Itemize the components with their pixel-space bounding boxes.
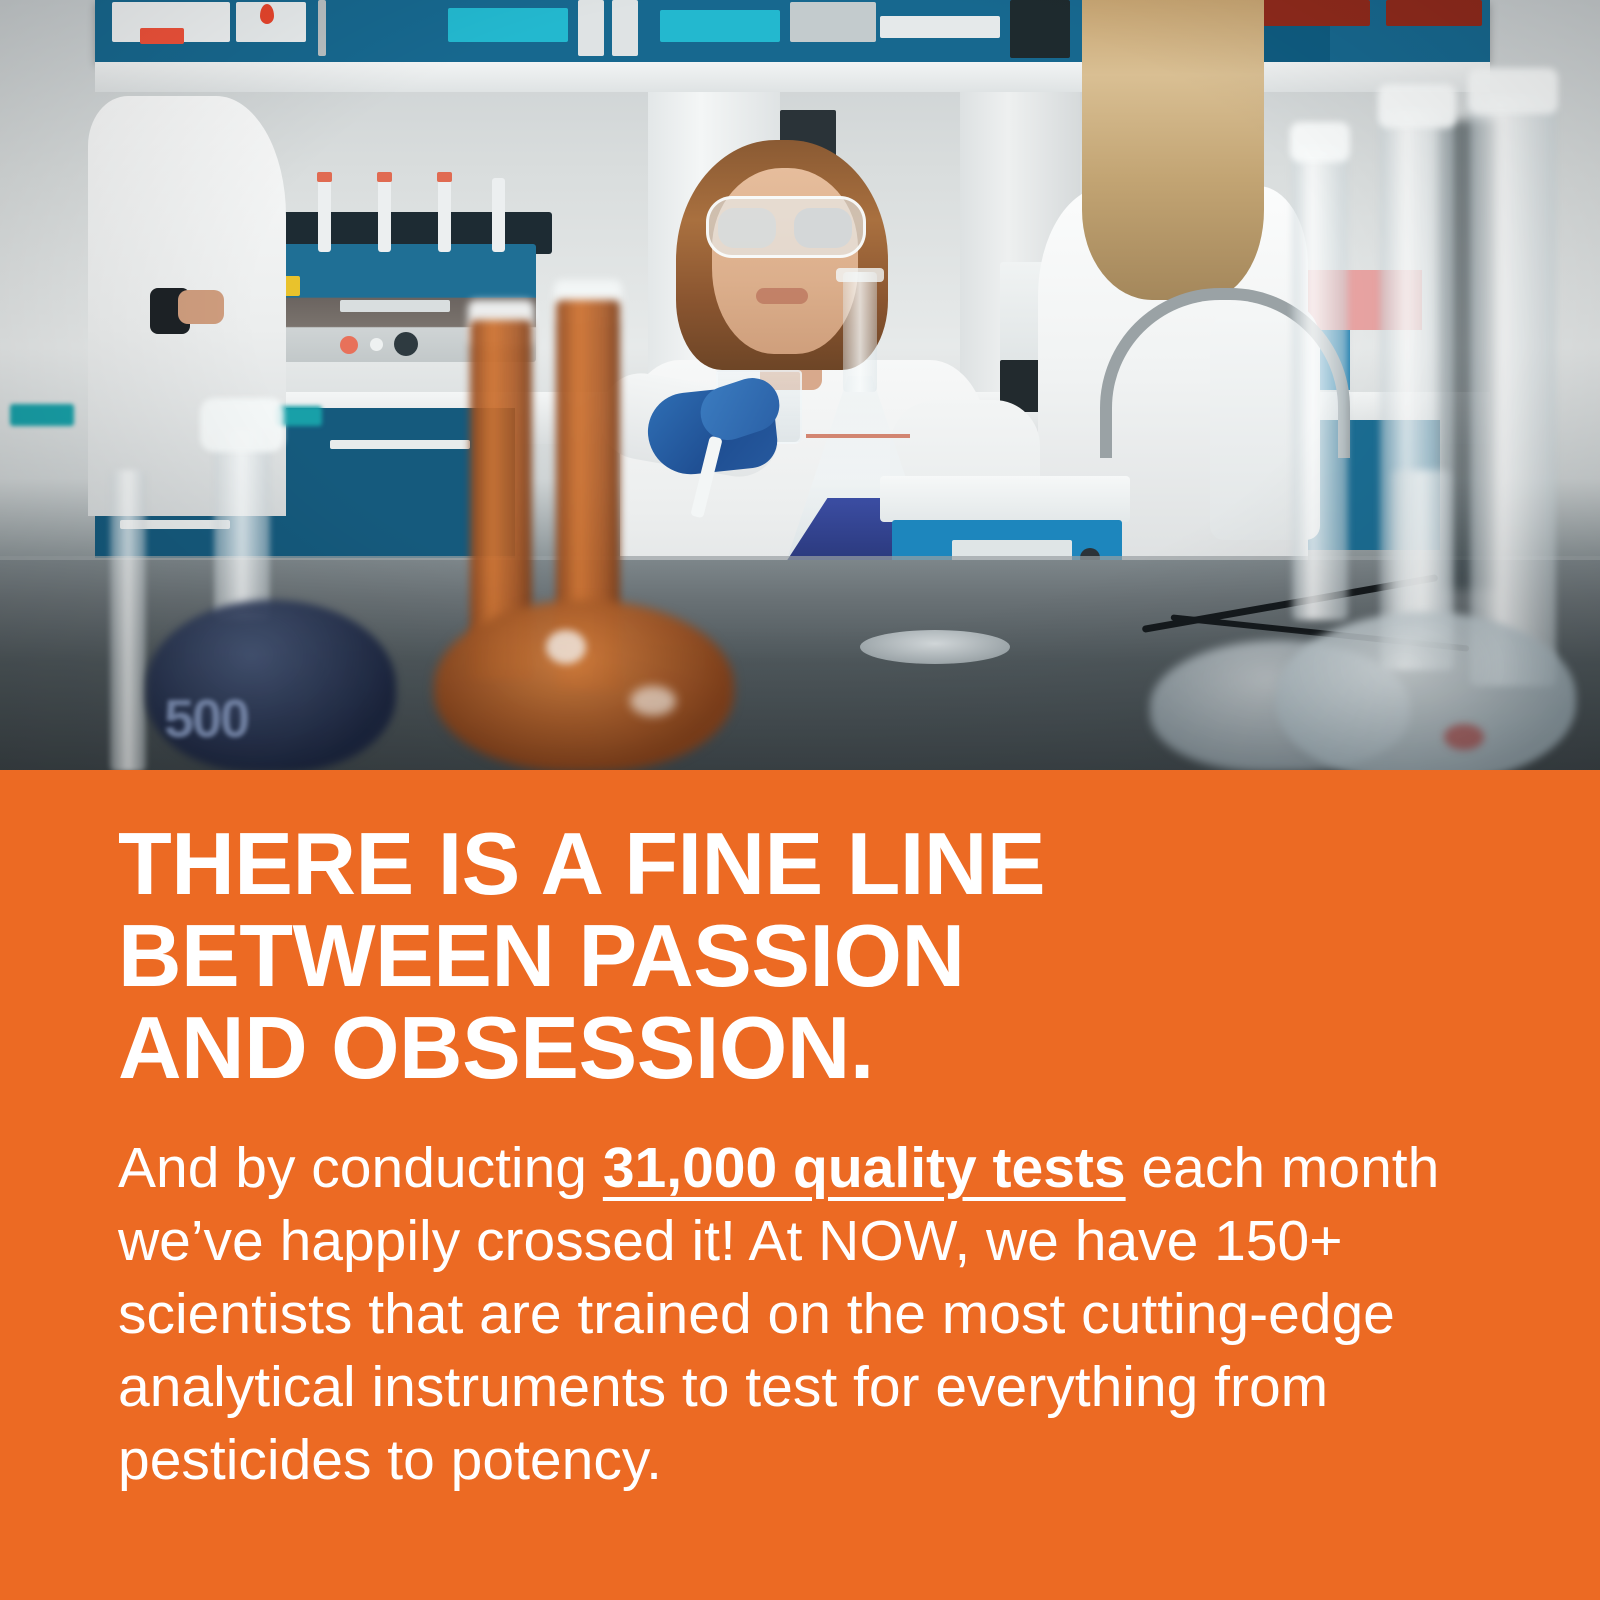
quality-tests-emphasis: 31,000 quality tests [603,1136,1126,1200]
orange-message-panel: THERE IS A FINE LINE BETWEEN PASSION AND… [0,770,1600,1600]
headline-line-3: AND OBSESSION. [118,1002,1448,1094]
headline: THERE IS A FINE LINE BETWEEN PASSION AND… [118,818,1448,1094]
promo-card: 500 THERE IS A FINE LINE BETWEEN PASSION… [0,0,1600,1600]
laboratory-photo: 500 [0,0,1600,772]
copy-block: THERE IS A FINE LINE BETWEEN PASSION AND… [118,818,1448,1497]
body-paragraph: And by conducting 31,000 quality tests e… [118,1132,1448,1497]
headline-line-2: BETWEEN PASSION [118,910,1448,1002]
photo-vignette [0,0,1600,772]
body-text-before: And by conducting [118,1136,603,1200]
headline-line-1: THERE IS A FINE LINE [118,818,1448,910]
